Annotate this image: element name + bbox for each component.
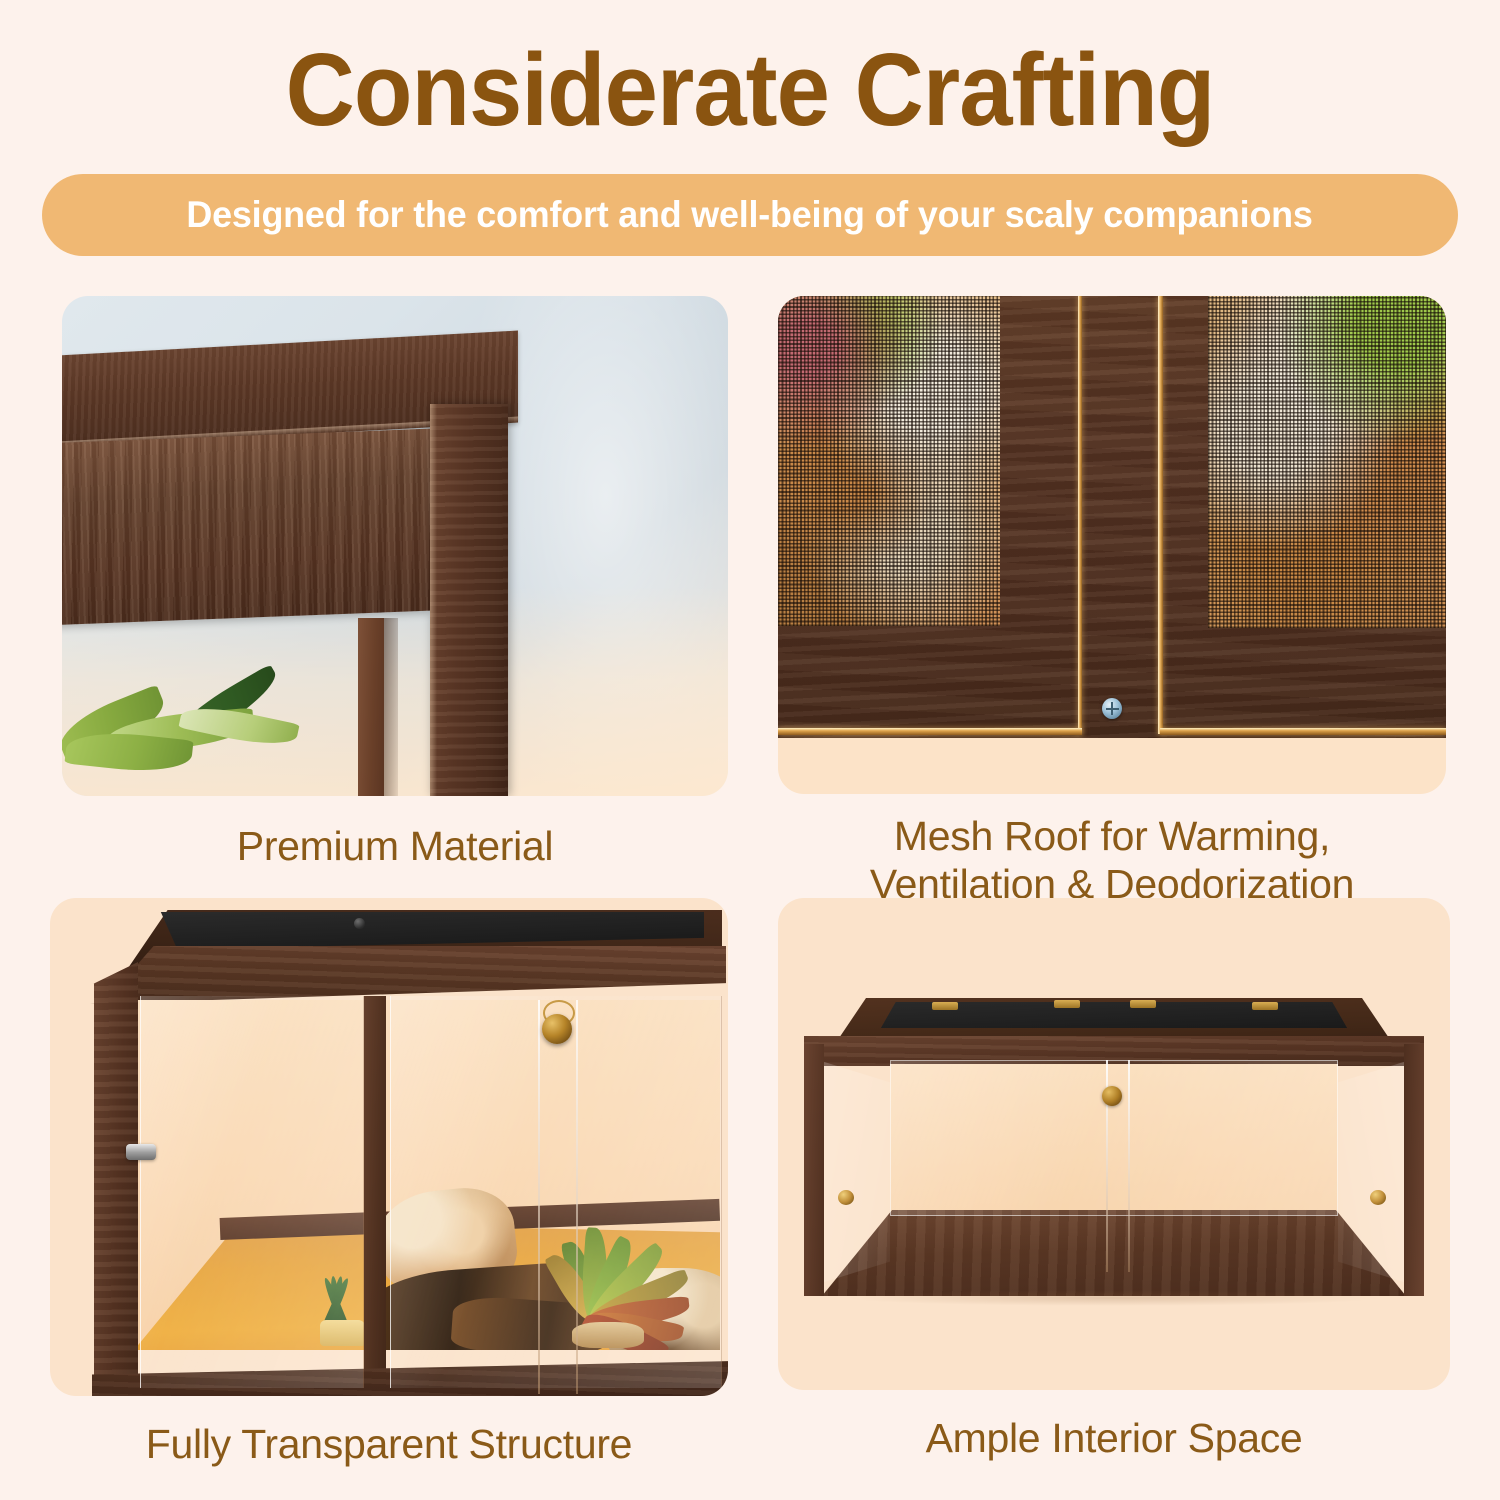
card-footer-band — [778, 738, 1446, 794]
lid-clip — [1252, 1002, 1278, 1010]
mesh-panel-right — [1208, 296, 1446, 628]
wood-front-panel — [62, 429, 430, 626]
terrarium-illustration — [804, 998, 1424, 1298]
gold-trim-horizontal — [778, 728, 1082, 735]
terrarium-center-post — [364, 996, 386, 1388]
glass-door-seam — [538, 1000, 540, 1394]
side-hinge — [126, 1144, 156, 1160]
subtitle-text: Designed for the comfort and well-being … — [187, 194, 1313, 236]
gold-trim-vertical — [1158, 296, 1163, 734]
mesh-panel-left — [778, 296, 1000, 626]
feature-image-mesh-roof — [778, 296, 1446, 794]
drop-shadow — [844, 1290, 1384, 1306]
feature-caption-mesh-roof: Mesh Roof for Warming, Ventilation & Deo… — [778, 812, 1446, 908]
wood-post-highlight — [430, 404, 437, 796]
door-knob — [1102, 1086, 1122, 1106]
feature-card-ample-interior-space: Ample Interior Space — [778, 898, 1450, 1462]
wood-leg-shadow — [384, 618, 398, 796]
gold-trim-vertical — [1078, 296, 1082, 734]
page-title: Considerate Crafting — [53, 34, 1448, 146]
glass-front-doors — [890, 1060, 1338, 1216]
glass-side-panel-right — [1338, 1060, 1410, 1284]
mesh-screen-texture — [778, 296, 1000, 626]
feature-card-premium-material: Premium Material — [62, 296, 728, 870]
door-knob — [542, 1014, 572, 1044]
caption-line: Mesh Roof for Warming, — [778, 812, 1446, 860]
feature-caption-transparent-structure: Fully Transparent Structure — [50, 1420, 728, 1468]
gold-trim-horizontal — [1160, 728, 1446, 735]
terrarium-illustration — [72, 904, 728, 1396]
feature-caption-premium-material: Premium Material — [62, 822, 728, 870]
wood-inner-leg — [358, 618, 384, 796]
side-knob-left — [838, 1190, 854, 1205]
lid-cable-hole — [354, 918, 365, 929]
lid-clip — [932, 1002, 958, 1010]
subtitle-banner: Designed for the comfort and well-being … — [42, 174, 1458, 256]
terrarium-left-post — [94, 962, 138, 1392]
feature-image-premium-material — [62, 296, 728, 796]
lid-clip — [1054, 1000, 1080, 1008]
side-knob-right — [1370, 1190, 1386, 1205]
terrarium-floor — [822, 1210, 1406, 1296]
feature-card-mesh-roof: Mesh Roof for Warming, Ventilation & Deo… — [778, 296, 1446, 908]
feature-card-transparent-structure: Fully Transparent Structure — [50, 898, 728, 1468]
terrarium-left-post — [804, 1044, 824, 1296]
feature-image-ample-interior-space — [778, 898, 1450, 1390]
infographic-page: Considerate Crafting Designed for the co… — [0, 0, 1500, 1500]
glass-door-seam — [576, 1000, 578, 1394]
caption-line: Fully Transparent Structure — [50, 1420, 728, 1468]
glass-door-seam — [1128, 1060, 1130, 1272]
glass-side-panel-left — [818, 1060, 890, 1284]
feature-caption-ample-interior-space: Ample Interior Space — [778, 1414, 1450, 1462]
screw-icon — [1102, 698, 1122, 719]
mesh-screen-texture — [1208, 296, 1446, 628]
wood-corner-post — [430, 404, 508, 796]
caption-line: Ample Interior Space — [778, 1414, 1450, 1462]
caption-line: Premium Material — [62, 822, 728, 870]
lid-clip — [1130, 1000, 1156, 1008]
feature-image-transparent-structure — [50, 898, 728, 1396]
glass-pane-left — [140, 996, 364, 1388]
glass-pane-right — [390, 996, 722, 1388]
terrarium-right-post — [1404, 1044, 1424, 1296]
